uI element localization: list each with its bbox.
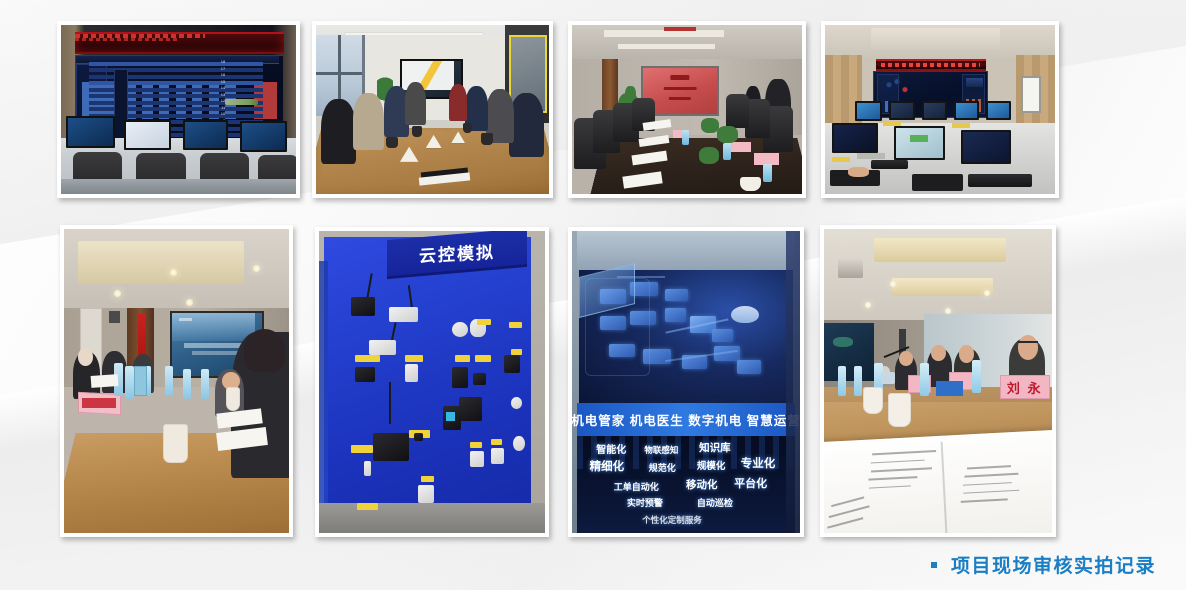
photo-4-image xyxy=(825,25,1055,194)
photo-1-image: 181716 151413 121110 987 xyxy=(61,25,296,194)
keyword-5: 规模化 xyxy=(697,458,726,472)
photo-gallery: 181716 151413 121110 987 xyxy=(0,0,1186,590)
photo-5-image xyxy=(64,229,289,533)
keyword-6: 专业化 xyxy=(741,455,776,471)
keyword-12: 个性化定制服务 xyxy=(642,514,702,526)
poster-keywords: 智能化 物联感知 知识库 精细化 规范化 规模化 专业化 工单自动化 移动化 平… xyxy=(577,436,796,533)
slide-canvas: 181716 151413 121110 987 xyxy=(0,0,1186,590)
poster-banner: 机电管家 机电医生 数字机电 智慧运营 xyxy=(577,403,796,436)
caption-text: 项目现场审核实拍记录 xyxy=(951,551,1156,578)
poster-banner-text: 机电管家 机电医生 数字机电 智慧运营 xyxy=(572,410,800,429)
photo-smart-mep-poster[interactable]: 机电管家 机电医生 数字机电 智慧运营 智能化 物联感知 知识库 精细化 规范化… xyxy=(568,227,804,537)
photo-review-meeting-nameplate[interactable]: 刘 永 xyxy=(820,225,1056,537)
keyword-7: 工单自动化 xyxy=(614,480,659,493)
poster-diagram xyxy=(579,270,793,406)
photo-6-image: 云控模拟 xyxy=(319,231,545,533)
photo-meeting-room-wood-table[interactable] xyxy=(312,21,553,198)
nameplate-liu-yong: 刘 永 xyxy=(1000,375,1050,399)
photo-cloud-control-exhibit-wall[interactable]: 云控模拟 xyxy=(315,227,549,537)
photo-operations-center[interactable] xyxy=(821,21,1059,198)
nameplate-label: 刘 永 xyxy=(1007,378,1043,397)
keyword-9: 平台化 xyxy=(734,475,767,491)
photo-2-image xyxy=(316,25,549,194)
photo-3-image xyxy=(572,25,802,194)
photo-7-image: 机电管家 机电医生 数字机电 智慧运营 智能化 物联感知 知识库 精细化 规范化… xyxy=(572,231,800,533)
keyword-8: 移动化 xyxy=(686,477,718,492)
photo-control-room-led-wall[interactable]: 181716 151413 121110 987 xyxy=(57,21,300,198)
photo-meeting-admin-center[interactable] xyxy=(60,225,293,537)
keyword-10: 实时预警 xyxy=(627,496,663,509)
keyword-0: 智能化 xyxy=(596,441,626,456)
keyword-11: 自动巡检 xyxy=(697,496,733,509)
keyword-4: 规范化 xyxy=(649,461,676,474)
keyword-2: 知识库 xyxy=(699,440,731,455)
photo-conference-welcome-screen[interactable] xyxy=(568,21,806,198)
photo-8-image: 刘 永 xyxy=(824,229,1052,533)
keyword-3: 精细化 xyxy=(590,458,625,474)
keyword-1: 物联感知 xyxy=(644,444,678,456)
square-bullet-icon xyxy=(931,562,937,568)
slide-caption: 项目现场审核实拍记录 xyxy=(931,551,1156,578)
exhibit-sign-label: 云控模拟 xyxy=(419,238,495,267)
